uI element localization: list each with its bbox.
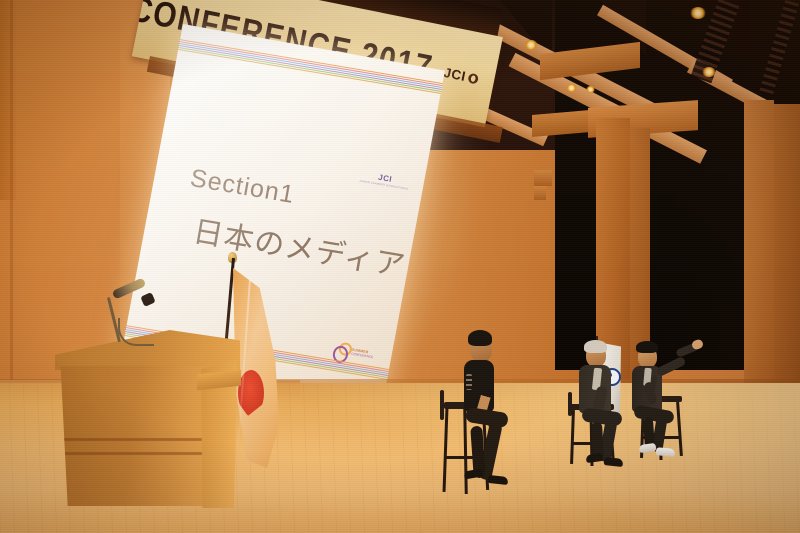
panelist-thigh bbox=[465, 407, 509, 428]
banner-jci-logo: JCI bbox=[442, 65, 479, 87]
panelist-shoe bbox=[586, 453, 604, 463]
ceiling-spotlight bbox=[566, 84, 577, 92]
panelist-thigh bbox=[633, 405, 675, 425]
jci-roundel-icon bbox=[467, 72, 479, 84]
panelist-moderator bbox=[452, 330, 522, 500]
panelist-sneaker bbox=[639, 443, 657, 453]
panelist-sneaker bbox=[656, 447, 676, 457]
panelist-hair bbox=[584, 340, 607, 353]
banner-jci-wordmark: JCI bbox=[442, 65, 467, 84]
panelist-raised-arm-upper bbox=[656, 356, 687, 377]
panelist-shoe bbox=[488, 475, 509, 485]
panelist-hair bbox=[468, 330, 492, 346]
panelist-hair bbox=[636, 341, 658, 353]
floor-reflection bbox=[300, 383, 800, 533]
slide-logo-top-right: JCI JUNIOR CHAMBER INTERNATIONAL bbox=[359, 170, 411, 191]
polo-sleeve-print bbox=[466, 374, 472, 390]
pillar-step-block bbox=[534, 170, 552, 186]
conference-stage-photo: SUMMER CONFERENCE 2017 JCI JCI JUNIOR CH… bbox=[0, 0, 800, 533]
ceiling-spotlight bbox=[524, 40, 538, 50]
ceiling-spotlight bbox=[702, 67, 716, 77]
pillar-step-block bbox=[534, 186, 546, 200]
panelist-guest-speaker bbox=[620, 340, 710, 465]
ceiling-spotlight bbox=[586, 86, 595, 93]
podium bbox=[55, 330, 240, 505]
ceiling-spotlight bbox=[690, 7, 706, 19]
summer-conference-swirl-icon bbox=[331, 341, 351, 361]
wall-seam bbox=[0, 0, 16, 200]
